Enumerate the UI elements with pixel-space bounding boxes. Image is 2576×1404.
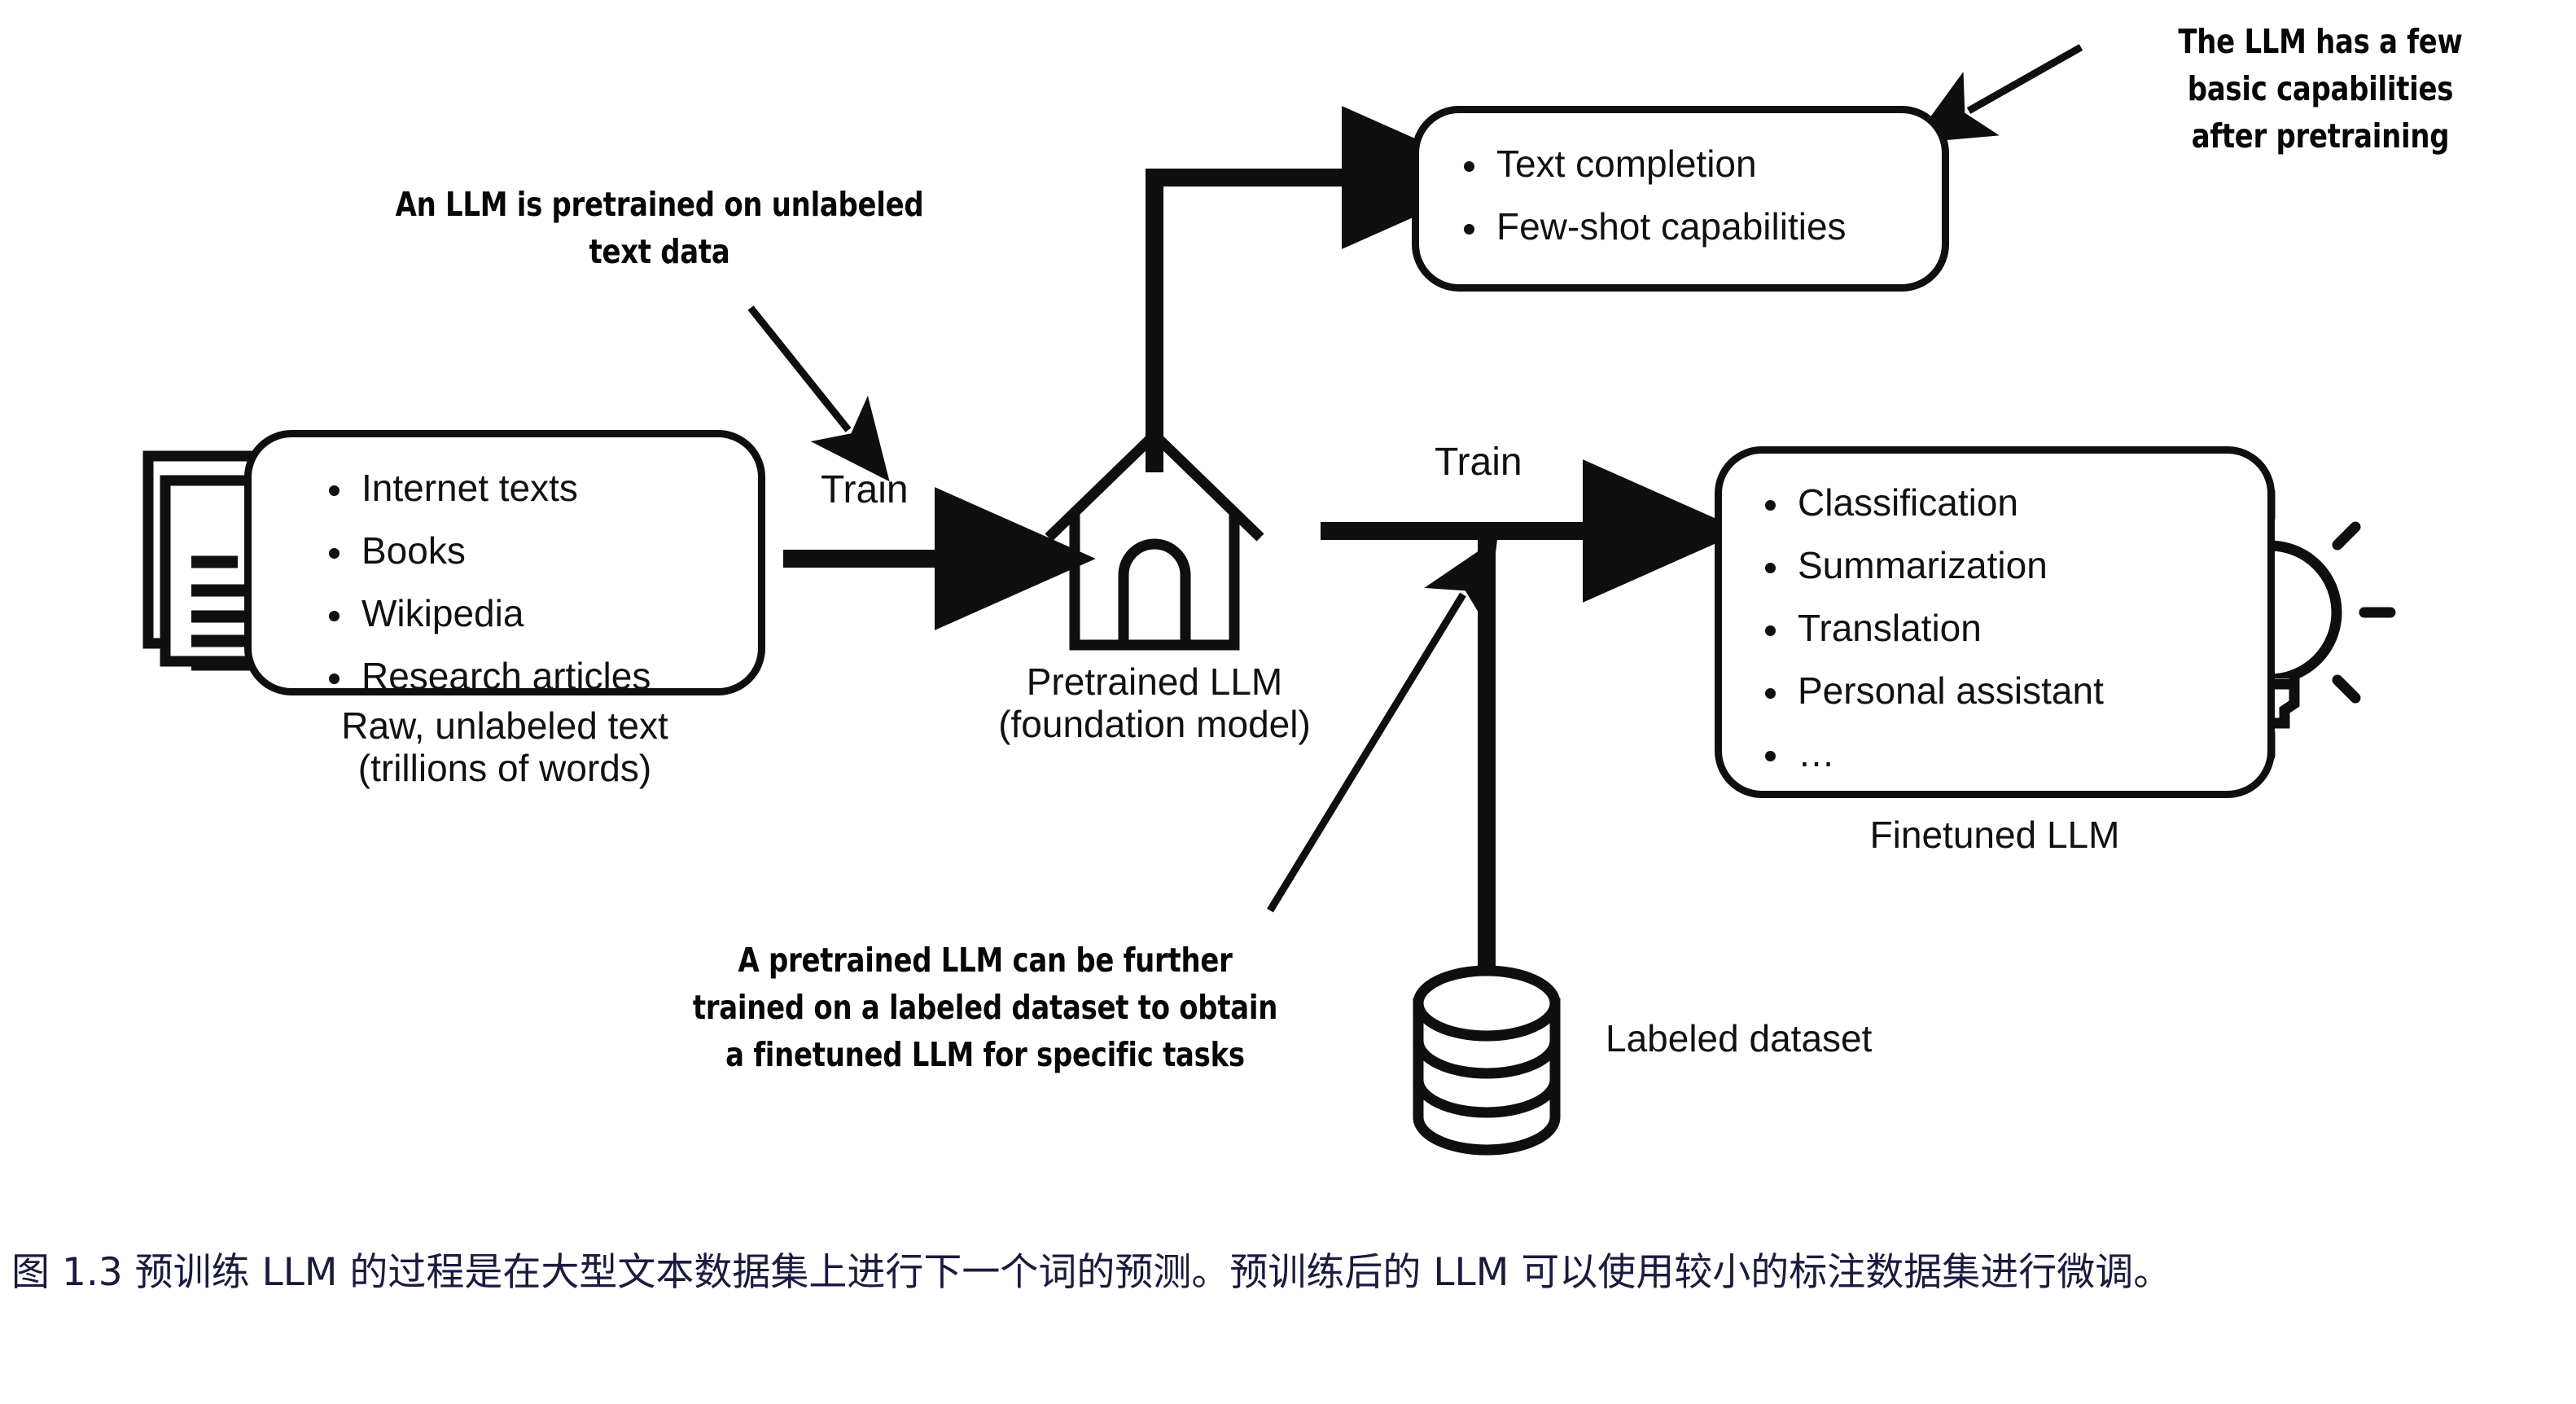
list-item: Few-shot capabilities xyxy=(1457,208,1847,245)
train-label-finetune: Train xyxy=(1435,440,1522,485)
list-item: Translation xyxy=(1759,609,2104,647)
figure-caption: 图 1.3 预训练 LLM 的过程是在大型文本数据集上进行下一个词的预测。预训练… xyxy=(11,1244,2560,1301)
list-item: … xyxy=(1759,735,2104,772)
finetune-note-arrow xyxy=(1270,595,1463,910)
finetuned-llm-caption: Finetuned LLM xyxy=(1742,814,2247,857)
raw-text-bullets: Internet texts Books Wikipedia Research … xyxy=(322,469,651,695)
pretrained-llm-caption: Pretrained LLM (foundation model) xyxy=(918,661,1391,745)
list-item: Text completion xyxy=(1457,145,1847,182)
finetuned-bullets: Classification Summarization Translation… xyxy=(1759,484,2104,772)
figure-page: An LLM is pretrained on unlabeled text d… xyxy=(0,0,2576,1404)
labeled-dataset-label: Labeled dataset xyxy=(1606,1018,2110,1060)
list-item: Research articles xyxy=(322,657,651,695)
list-item: Personal assistant xyxy=(1759,672,2104,709)
pretrain-note-arrow xyxy=(751,308,848,430)
capabilities-note: The LLM has a few basic capabilities aft… xyxy=(2110,18,2530,160)
pretrain-note: An LLM is pretrained on unlabeled text d… xyxy=(337,181,981,275)
raw-text-caption: Raw, unlabeled text (trillions of words) xyxy=(228,705,782,789)
finetune-note: A pretrained LLM can be further trained … xyxy=(633,937,1338,1079)
train-label-pretrain: Train xyxy=(821,467,909,512)
capabilities-bullets: Text completion Few-shot capabilities xyxy=(1457,145,1847,245)
list-item: Summarization xyxy=(1759,546,2104,584)
list-item: Wikipedia xyxy=(322,595,651,632)
database-icon xyxy=(1418,971,1555,1150)
list-item: Classification xyxy=(1759,484,2104,521)
list-item: Books xyxy=(322,532,651,569)
capabilities-note-arrow xyxy=(1969,47,2081,111)
capabilities-elbow-arrow xyxy=(1154,178,1361,472)
list-item: Internet texts xyxy=(322,469,651,507)
